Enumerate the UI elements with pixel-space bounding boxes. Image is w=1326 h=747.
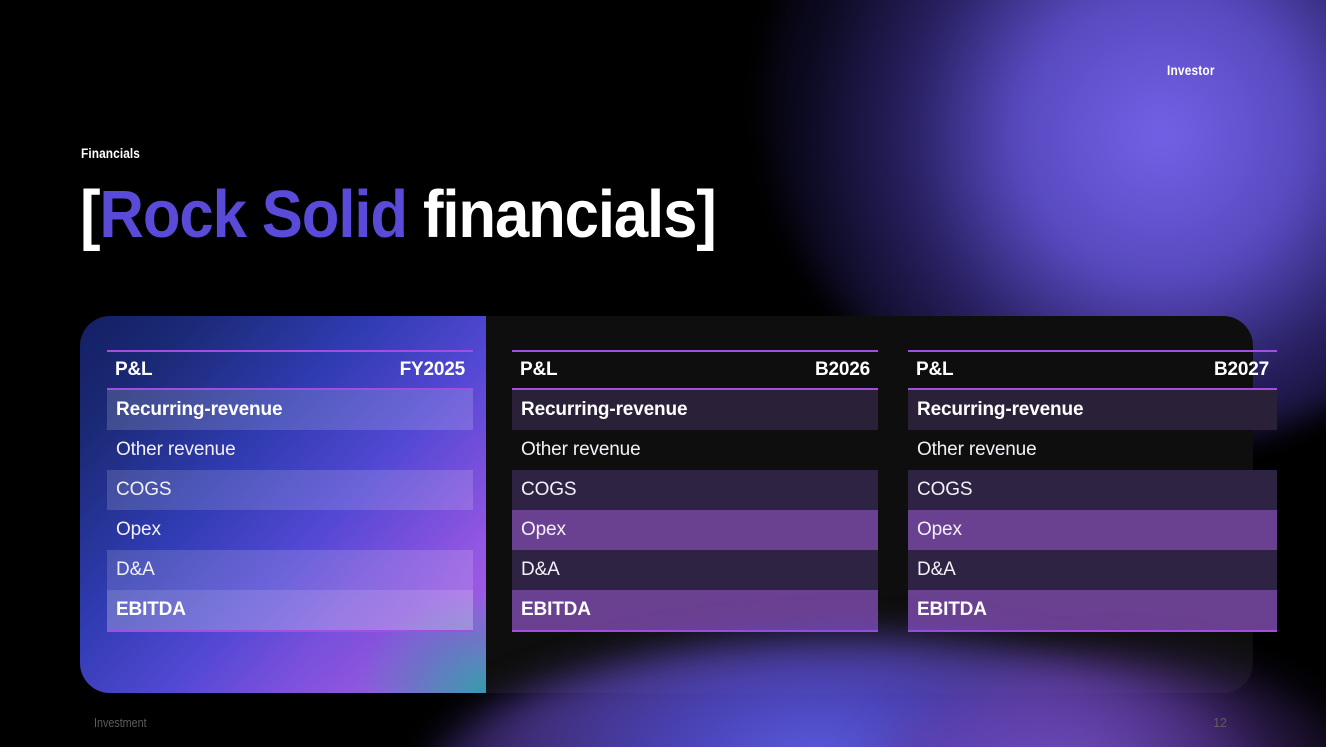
row-label: COGS xyxy=(917,479,972,501)
table-row[interactable]: EBITDA xyxy=(107,590,473,632)
table-row[interactable]: COGS xyxy=(512,470,878,510)
table-row[interactable]: D&A xyxy=(908,550,1277,590)
row-label: Other revenue xyxy=(917,439,1037,461)
page-title: [Rock Solid financials] xyxy=(80,181,716,248)
row-label: D&A xyxy=(521,559,560,581)
table-row[interactable]: EBITDA xyxy=(908,590,1277,632)
row-label: Recurring-revenue xyxy=(917,399,1083,421)
row-label: Recurring-revenue xyxy=(521,399,687,421)
table-row[interactable]: Other revenue xyxy=(908,430,1277,470)
table-row[interactable]: Recurring-revenue xyxy=(908,390,1277,430)
row-label: Other revenue xyxy=(116,439,236,461)
table-header-row: P&L B2027 xyxy=(908,352,1277,388)
title-accent-text: Rock Solid xyxy=(99,177,406,252)
row-label: Opex xyxy=(917,519,962,541)
row-label: D&A xyxy=(116,559,155,581)
table-header-row: P&L FY2025 xyxy=(107,352,473,388)
table-header-label: P&L xyxy=(916,359,953,381)
table-row[interactable]: Opex xyxy=(908,510,1277,550)
investor-badge: Investor xyxy=(1167,63,1215,78)
row-label: COGS xyxy=(116,479,171,501)
pnl-table-fy2025: P&L FY2025 Recurring-revenue Other reven… xyxy=(107,350,473,632)
table-header-label: P&L xyxy=(520,359,557,381)
table-row[interactable]: Recurring-revenue xyxy=(107,390,473,430)
table-header-period: FY2025 xyxy=(400,359,465,381)
row-label: Recurring-revenue xyxy=(116,399,282,421)
table-row[interactable]: COGS xyxy=(107,470,473,510)
pnl-table-b2027: P&L B2027 Recurring-revenue Other revenu… xyxy=(908,350,1277,632)
row-label: EBITDA xyxy=(521,599,591,621)
table-row[interactable]: D&A xyxy=(512,550,878,590)
title-bracket-close: ] xyxy=(696,177,715,252)
table-body: Recurring-revenue Other revenue COGS Ope… xyxy=(512,390,878,632)
financials-card-container: P&L FY2025 Recurring-revenue Other reven… xyxy=(80,316,1253,693)
table-row[interactable]: Recurring-revenue xyxy=(512,390,878,430)
row-label: COGS xyxy=(521,479,576,501)
slide-root: Investor Financials [Rock Solid financia… xyxy=(0,0,1326,747)
section-eyebrow: Financials xyxy=(81,146,140,161)
row-label: EBITDA xyxy=(917,599,987,621)
pnl-table-b2026: P&L B2026 Recurring-revenue Other revenu… xyxy=(512,350,878,632)
table-body: Recurring-revenue Other revenue COGS Ope… xyxy=(107,390,473,632)
row-label: D&A xyxy=(917,559,956,581)
table-row[interactable]: EBITDA xyxy=(512,590,878,632)
table-header-period: B2026 xyxy=(815,359,870,381)
title-bracket-open: [ xyxy=(80,177,99,252)
page-number: 12 xyxy=(1213,716,1227,730)
table-row[interactable]: Other revenue xyxy=(107,430,473,470)
table-row[interactable]: Other revenue xyxy=(512,430,878,470)
row-label: Opex xyxy=(116,519,161,541)
table-header-row: P&L B2026 xyxy=(512,352,878,388)
table-header-label: P&L xyxy=(115,359,152,381)
footer-label: Investment xyxy=(94,716,147,730)
table-row[interactable]: Opex xyxy=(512,510,878,550)
table-body: Recurring-revenue Other revenue COGS Ope… xyxy=(908,390,1277,632)
row-label: Opex xyxy=(521,519,566,541)
table-row[interactable]: D&A xyxy=(107,550,473,590)
table-row[interactable]: Opex xyxy=(107,510,473,550)
table-row[interactable]: COGS xyxy=(908,470,1277,510)
title-rest-text: financials xyxy=(407,177,696,252)
table-header-period: B2027 xyxy=(1214,359,1269,381)
row-label: EBITDA xyxy=(116,599,186,621)
row-label: Other revenue xyxy=(521,439,641,461)
